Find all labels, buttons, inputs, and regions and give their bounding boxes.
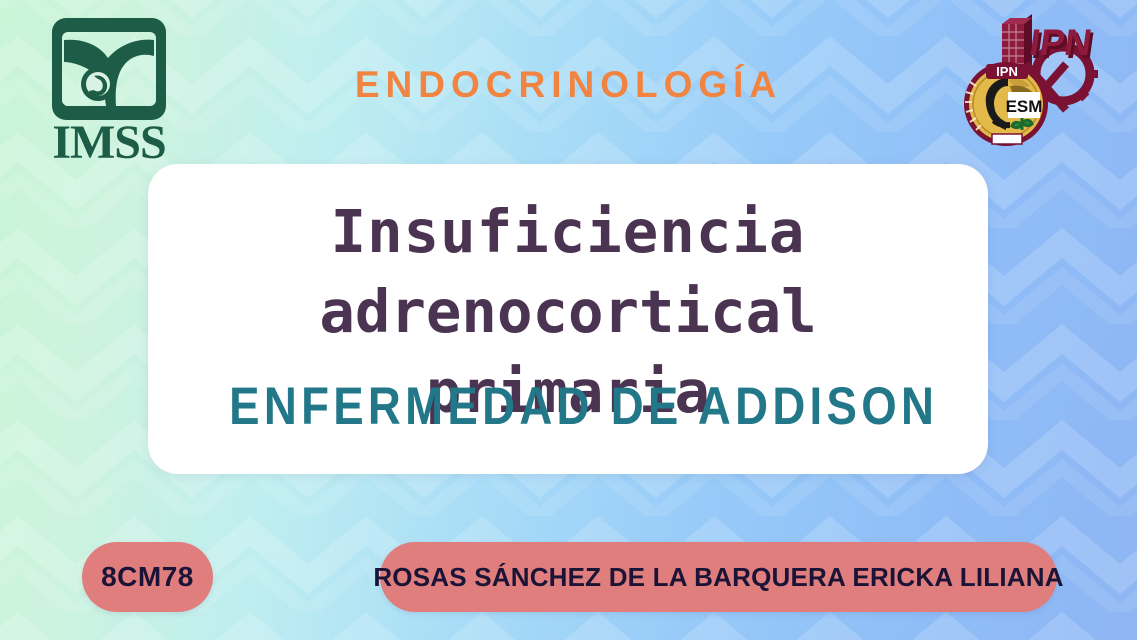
page-eyebrow-specialty: ENDOCRINOLOGÍA: [0, 64, 1137, 106]
title-card: Insuficiencia adrenocortical primaria EN…: [148, 164, 988, 474]
svg-text:IPN: IPN: [1027, 21, 1095, 63]
page-subtitle: ENFERMEDAD DE ADDISON: [229, 376, 907, 437]
author-name-badge: ROSAS SÁNCHEZ DE LA BARQUERA ERICKA LILI…: [380, 542, 1057, 612]
page-title-line-1: Insuficiencia: [174, 192, 962, 272]
group-code-badge: 8CM78: [82, 542, 213, 612]
svg-text:IMSS: IMSS: [52, 116, 165, 162]
presentation-slide: IMSS: [0, 0, 1137, 640]
